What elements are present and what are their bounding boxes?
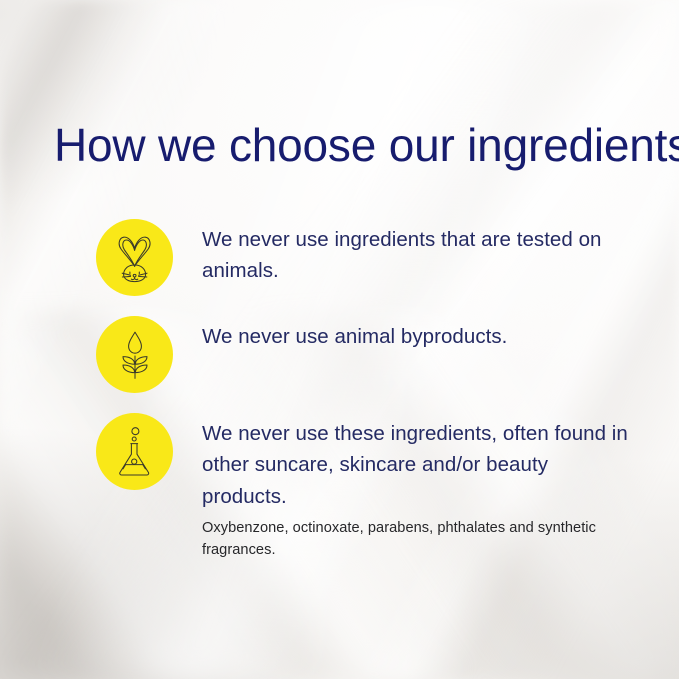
claim-text: We never use animal byproducts.: [202, 321, 636, 352]
claim-item-cruelty-free: We never use ingredients that are tested…: [96, 219, 636, 296]
icon-badge-cruelty-free: [96, 219, 173, 296]
claim-item-no-animal-byproducts: We never use animal byproducts.: [96, 316, 636, 393]
flask-beaker-icon: [113, 426, 157, 478]
icon-badge-flask: [96, 413, 173, 490]
claim-text-wrap-cruelty-free: We never use ingredients that are tested…: [202, 219, 636, 287]
claim-text-wrap-no-animal-byproducts: We never use animal byproducts.: [202, 316, 636, 352]
page-title: How we choose our ingredients: [54, 121, 679, 171]
claims-list: We never use ingredients that are tested…: [96, 219, 636, 562]
claim-text: We never use ingredients that are tested…: [202, 224, 636, 287]
claim-item-banned-ingredients: We never use these ingredients, often fo…: [96, 413, 636, 562]
ingredient-philosophy-poster: How we choose our ingredients: [0, 0, 679, 679]
claim-text-wrap-banned-ingredients: We never use these ingredients, often fo…: [202, 413, 636, 562]
plant-leaf-icon: [114, 330, 156, 380]
claim-note: Oxybenzone, octinoxate, parabens, phthal…: [202, 518, 636, 562]
bunny-cruelty-free-icon: [112, 232, 158, 284]
claim-text: We never use these ingredients, often fo…: [202, 418, 636, 512]
icon-badge-plant: [96, 316, 173, 393]
